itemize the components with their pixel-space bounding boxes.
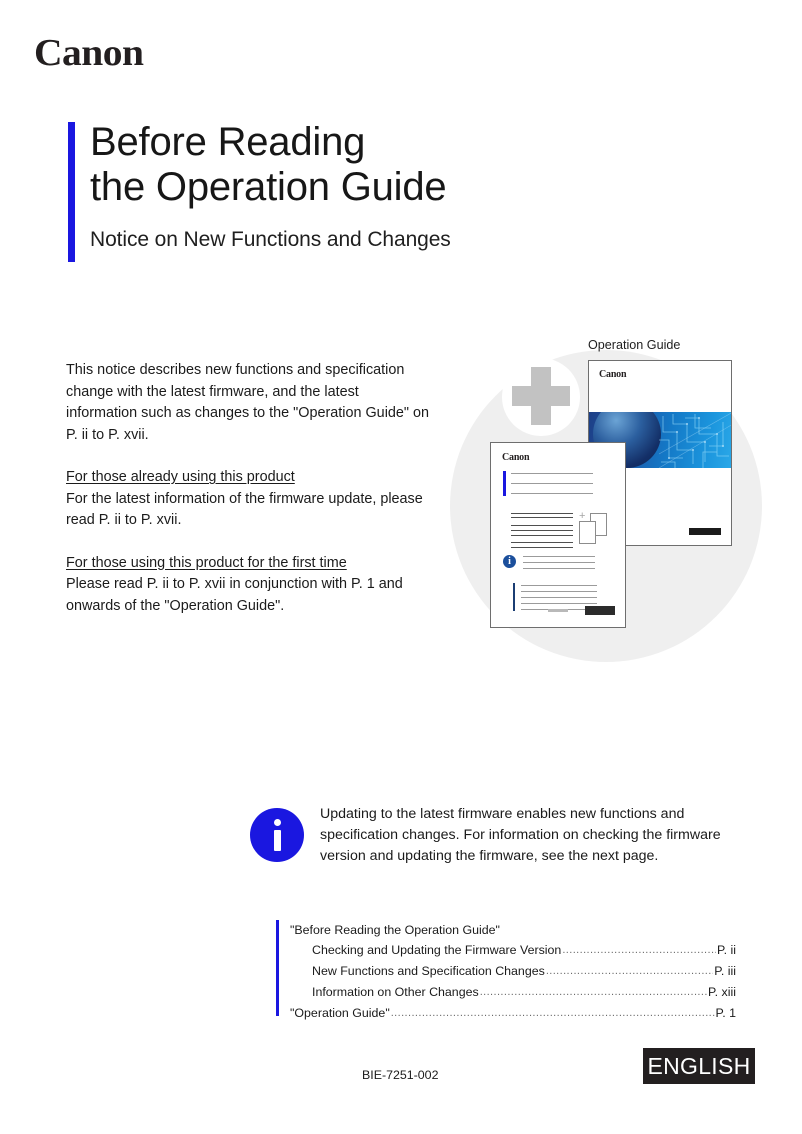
thumbnail-text-line [511, 547, 573, 548]
document-number: BIE-7251-002 [362, 1068, 438, 1082]
toc-entry-label: Checking and Updating the Firmware Versi… [312, 940, 561, 960]
toc-entry-label: New Functions and Specification Changes [312, 961, 545, 981]
thumbnail-text-line [511, 542, 573, 543]
toc-row[interactable]: "Operation Guide".......................… [290, 1003, 736, 1024]
booklet-footer-bar [689, 528, 721, 535]
thumbnail-canon-logo: Canon [502, 452, 529, 463]
thumbnail-text-line [511, 530, 573, 531]
toc-entry-page: P. 1 [716, 1003, 736, 1023]
intro-section-2-heading: For those using this product for the fir… [66, 553, 431, 575]
thumbnail-toc-line [521, 597, 597, 598]
toc-entry-label: "Before Reading the Operation Guide" [290, 920, 500, 940]
toc-leader-dots: ........................................… [480, 982, 707, 1002]
toc-accent-bar [276, 920, 279, 1016]
booklet-canon-logo: Canon [599, 369, 626, 380]
thumbnail-text-line [523, 556, 595, 557]
toc-row[interactable]: "Before Reading the Operation Guide"....… [290, 920, 736, 940]
toc-entry-label: Information on Other Changes [312, 982, 479, 1002]
toc-entry-page: P. xiii [708, 982, 736, 1002]
plus-icon-vertical [531, 367, 551, 425]
thumbnail-text-line [511, 483, 593, 484]
operation-guide-label: Operation Guide [588, 338, 680, 352]
thumbnail-text-line [523, 568, 595, 569]
title-accent-bar [68, 122, 75, 262]
spacer [66, 532, 431, 553]
thumbnail-toc-line [521, 591, 597, 592]
circuit-pattern-icon [659, 412, 731, 468]
thumbnail-text-line [523, 562, 595, 563]
thumbnail-document-number-bar [548, 609, 568, 612]
thumbnail-text-line [511, 517, 573, 518]
toc-leader-dots: ........................................… [562, 940, 716, 960]
thumbnail-info-icon: i [503, 555, 516, 568]
toc-row[interactable]: Information on Other Changes............… [290, 982, 736, 1003]
intro-section-1-heading: For those already using this product [66, 467, 431, 489]
toc-entry-label: "Operation Guide" [290, 1003, 390, 1023]
toc-row[interactable]: New Functions and Specification Changes.… [290, 961, 736, 982]
canon-logo: Canon [34, 34, 143, 72]
notice-document-thumbnail: Canon + i [490, 442, 626, 628]
info-icon-stem [274, 830, 281, 851]
thumbnail-text-line [511, 493, 593, 494]
thumbnail-text-line [511, 473, 593, 474]
copy-pages-icon: + [578, 513, 610, 545]
toc-row[interactable]: Checking and Updating the Firmware Versi… [290, 940, 736, 961]
thumbnail-toc-accent-bar [513, 583, 515, 611]
thumbnail-text-line [511, 535, 573, 536]
firmware-notice-text: Updating to the latest firmware enables … [320, 804, 750, 867]
toc-leader-dots: ........................................… [391, 1003, 715, 1023]
info-icon [250, 808, 304, 862]
thumbnail-language-badge [585, 606, 615, 615]
intro-section-1-body: For the latest information of the firmwa… [66, 489, 431, 532]
info-icon-dot [274, 819, 281, 826]
page-subtitle: Notice on New Functions and Changes [90, 228, 628, 252]
intro-section-2-body: Please read P. ii to P. xvii in conjunct… [66, 574, 431, 617]
illustration: Operation Guide Canon [450, 330, 780, 650]
page-title-line-2: the Operation Guide [90, 165, 628, 210]
toc-entry-page: P. ii [717, 940, 736, 960]
firmware-notice-block: Updating to the latest firmware enables … [250, 804, 750, 867]
title-block: Before Reading the Operation Guide Notic… [68, 120, 628, 252]
document-page: Canon Before Reading the Operation Guide… [0, 0, 802, 1134]
thumbnail-text-line [511, 513, 573, 514]
thumbnail-title-accent-bar [503, 471, 506, 496]
table-of-contents: "Before Reading the Operation Guide"....… [276, 920, 736, 1024]
thumbnail-text-line [511, 525, 573, 526]
page-title-line-1: Before Reading [90, 120, 628, 165]
toc-leader-dots: ........................................… [546, 961, 713, 981]
copy-page-front [579, 521, 596, 544]
toc-list: "Before Reading the Operation Guide"....… [290, 920, 736, 1024]
intro-paragraph: This notice describes new functions and … [66, 360, 431, 446]
thumbnail-toc-line [521, 585, 597, 586]
toc-entry-page: P. iii [714, 961, 736, 981]
language-badge: ENGLISH [643, 1048, 755, 1084]
thumbnail-toc-line [521, 603, 597, 604]
intro-text-block: This notice describes new functions and … [66, 360, 431, 617]
spacer [66, 446, 431, 467]
